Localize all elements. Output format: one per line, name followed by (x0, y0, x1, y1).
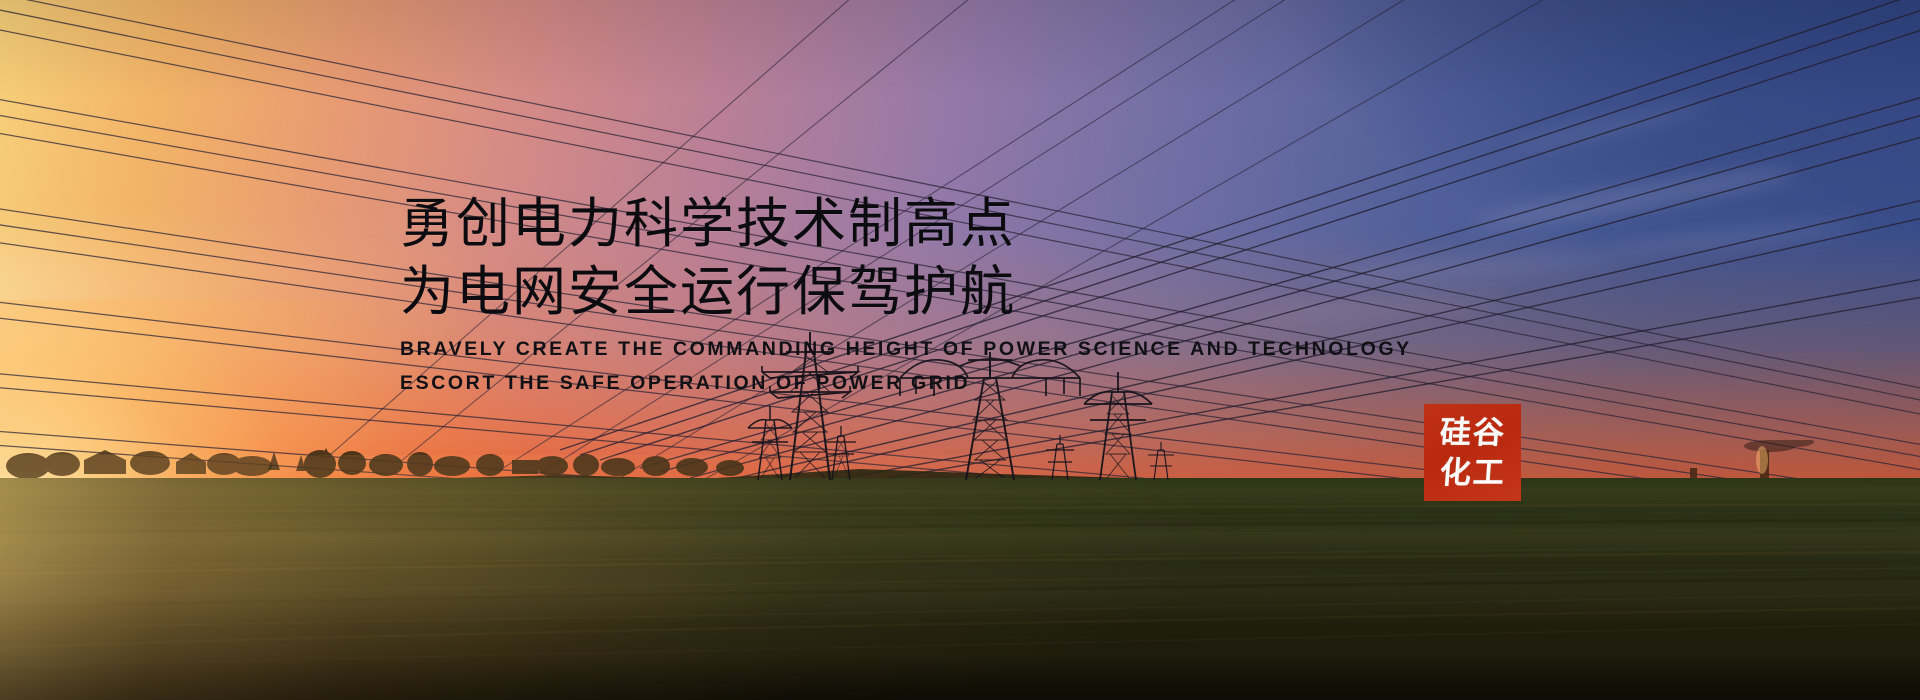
subtitle-english-line-2: ESCORT THE SAFE OPERATION OF POWER GRID (400, 366, 1460, 400)
subtitle-english-line-1: BRAVELY CREATE THE COMMANDING HEIGHT OF … (400, 332, 1460, 366)
company-logo-stamp[interactable]: 硅谷 化工 (1424, 404, 1521, 501)
hero-banner: 勇创电力科学技术制高点 为电网安全运行保驾护航 BRAVELY CREATE T… (0, 0, 1920, 700)
headline-chinese-line-2: 为电网安全运行保驾护航 (400, 258, 1460, 326)
banner-text-block: 勇创电力科学技术制高点 为电网安全运行保驾护航 BRAVELY CREATE T… (400, 190, 1460, 400)
headline-chinese-line-1: 勇创电力科学技术制高点 (400, 190, 1460, 258)
logo-text-line-2: 化工 (1438, 453, 1507, 493)
logo-text-line-1: 硅谷 (1438, 413, 1507, 453)
